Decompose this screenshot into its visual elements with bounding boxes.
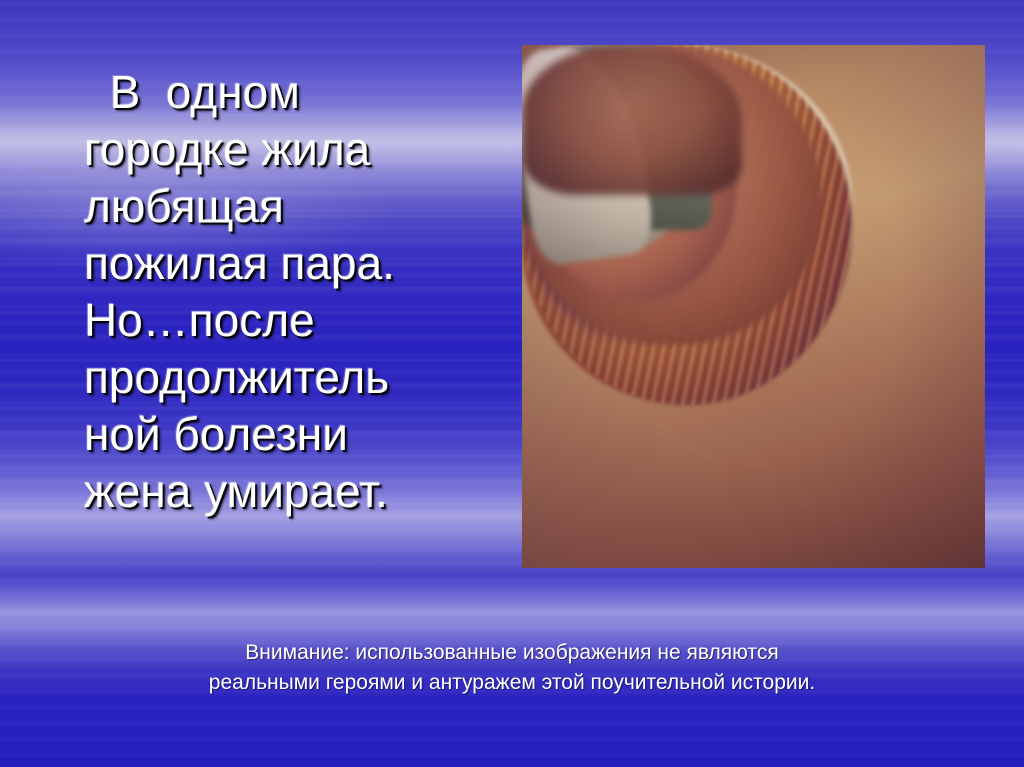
couple-photograph <box>522 45 985 568</box>
presentation-slide: В одном городке жила любящая пожилая пар… <box>0 0 1024 767</box>
photo-vignette <box>522 45 985 568</box>
disclaimer-caption: Внимание: использованные изображения не … <box>0 638 1024 698</box>
slide-headline-text: В одном городке жила любящая пожилая пар… <box>84 64 514 520</box>
